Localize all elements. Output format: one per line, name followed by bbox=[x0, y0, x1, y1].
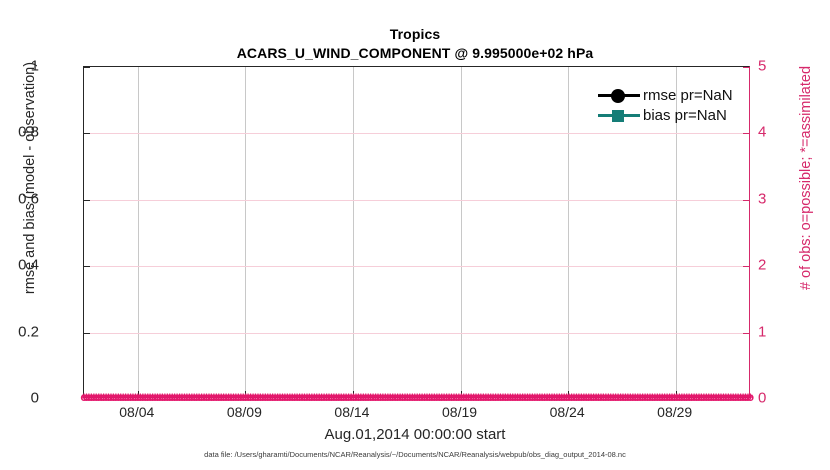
obs-possible-marker: o bbox=[387, 391, 394, 403]
obs-possible-marker: o bbox=[722, 391, 729, 403]
obs-assimilated-marker: * bbox=[716, 392, 721, 404]
obs-possible-marker: o bbox=[739, 391, 746, 403]
y-axis-tick-label-right: 0 bbox=[758, 390, 788, 407]
gridline-horizontal bbox=[84, 133, 749, 134]
obs-possible-marker: o bbox=[610, 391, 617, 403]
obs-assimilated-marker: * bbox=[270, 392, 275, 404]
obs-assimilated-marker: * bbox=[719, 392, 724, 404]
obs-assimilated-marker: * bbox=[655, 392, 660, 404]
obs-assimilated-marker: * bbox=[89, 392, 94, 404]
obs-assimilated-marker: * bbox=[165, 392, 170, 404]
obs-assimilated-marker: * bbox=[464, 392, 469, 404]
obs-possible-marker: o bbox=[602, 391, 609, 403]
legend-item: bias pr=NaN bbox=[598, 105, 748, 125]
obs-assimilated-marker: * bbox=[542, 392, 547, 404]
obs-assimilated-marker: * bbox=[454, 392, 459, 404]
obs-assimilated-marker: * bbox=[530, 392, 535, 404]
obs-possible-marker: o bbox=[330, 391, 337, 403]
obs-possible-marker: o bbox=[607, 391, 614, 403]
obs-possible-marker: o bbox=[524, 391, 531, 403]
obs-possible-marker: o bbox=[198, 391, 205, 403]
obs-assimilated-marker: * bbox=[123, 392, 128, 404]
obs-possible-marker: o bbox=[433, 391, 440, 403]
obs-assimilated-marker: * bbox=[481, 392, 486, 404]
obs-assimilated-marker: * bbox=[94, 392, 99, 404]
obs-assimilated-marker: * bbox=[532, 392, 537, 404]
obs-possible-marker: o bbox=[708, 391, 715, 403]
obs-assimilated-marker: * bbox=[251, 392, 256, 404]
obs-possible-marker: o bbox=[311, 391, 318, 403]
obs-possible-marker: o bbox=[629, 391, 636, 403]
obs-possible-marker: o bbox=[342, 391, 349, 403]
obs-assimilated-marker: * bbox=[704, 392, 709, 404]
obs-assimilated-marker: * bbox=[265, 392, 270, 404]
obs-assimilated-marker: * bbox=[577, 392, 582, 404]
obs-possible-marker: o bbox=[504, 391, 511, 403]
obs-assimilated-marker: * bbox=[332, 392, 337, 404]
obs-possible-marker: o bbox=[318, 391, 325, 403]
y-axis-tick-left bbox=[84, 333, 90, 334]
obs-possible-marker: o bbox=[279, 391, 286, 403]
obs-possible-marker: o bbox=[663, 391, 670, 403]
obs-possible-marker: o bbox=[122, 391, 129, 403]
gridline-vertical bbox=[568, 67, 569, 397]
obs-assimilated-marker: * bbox=[689, 392, 694, 404]
obs-assimilated-marker: * bbox=[381, 392, 386, 404]
obs-assimilated-marker: * bbox=[197, 392, 202, 404]
obs-possible-marker: o bbox=[737, 391, 744, 403]
obs-assimilated-marker: * bbox=[290, 392, 295, 404]
obs-assimilated-marker: * bbox=[633, 392, 638, 404]
obs-possible-marker: o bbox=[139, 391, 146, 403]
obs-assimilated-marker: * bbox=[692, 392, 697, 404]
obs-assimilated-marker: * bbox=[336, 392, 341, 404]
obs-possible-marker: o bbox=[154, 391, 161, 403]
obs-possible-marker: o bbox=[166, 391, 173, 403]
obs-possible-marker: o bbox=[249, 391, 256, 403]
obs-assimilated-marker: * bbox=[422, 392, 427, 404]
obs-possible-marker: o bbox=[717, 391, 724, 403]
obs-possible-marker: o bbox=[590, 391, 597, 403]
obs-possible-marker: o bbox=[690, 391, 697, 403]
y-axis-tick-label-right: 2 bbox=[758, 257, 788, 274]
obs-assimilated-marker: * bbox=[579, 392, 584, 404]
obs-possible-marker: o bbox=[394, 391, 401, 403]
obs-assimilated-marker: * bbox=[486, 392, 491, 404]
obs-assimilated-marker: * bbox=[258, 392, 263, 404]
obs-possible-marker: o bbox=[705, 391, 712, 403]
obs-assimilated-marker: * bbox=[525, 392, 530, 404]
obs-possible-marker: o bbox=[85, 391, 92, 403]
obs-possible-marker: o bbox=[587, 391, 594, 403]
obs-assimilated-marker: * bbox=[199, 392, 204, 404]
obs-possible-marker: o bbox=[725, 391, 732, 403]
obs-possible-marker: o bbox=[671, 391, 678, 403]
obs-assimilated-marker: * bbox=[535, 392, 540, 404]
obs-possible-marker: o bbox=[230, 391, 237, 403]
obs-possible-marker: o bbox=[107, 391, 114, 403]
obs-assimilated-marker: * bbox=[660, 392, 665, 404]
obs-possible-marker: o bbox=[247, 391, 254, 403]
obs-possible-marker: o bbox=[715, 391, 722, 403]
obs-assimilated-marker: * bbox=[214, 392, 219, 404]
x-axis-tick-label: 08/09 bbox=[227, 404, 262, 420]
obs-possible-marker: o bbox=[734, 391, 741, 403]
obs-assimilated-marker: * bbox=[653, 392, 658, 404]
obs-possible-marker: o bbox=[159, 391, 166, 403]
x-axis-tick bbox=[138, 391, 139, 397]
obs-possible-marker: o bbox=[286, 391, 293, 403]
obs-possible-marker: o bbox=[448, 391, 455, 403]
obs-possible-marker: o bbox=[514, 391, 521, 403]
obs-possible-marker: o bbox=[583, 391, 590, 403]
obs-possible-marker: o bbox=[345, 391, 352, 403]
obs-assimilated-marker: * bbox=[447, 392, 452, 404]
obs-assimilated-marker: * bbox=[491, 392, 496, 404]
obs-assimilated-marker: * bbox=[297, 392, 302, 404]
obs-assimilated-marker: * bbox=[694, 392, 699, 404]
obs-assimilated-marker: * bbox=[591, 392, 596, 404]
obs-assimilated-marker: * bbox=[312, 392, 317, 404]
obs-possible-marker: o bbox=[156, 391, 163, 403]
obs-assimilated-marker: * bbox=[474, 392, 479, 404]
obs-assimilated-marker: * bbox=[702, 392, 707, 404]
obs-assimilated-marker: * bbox=[207, 392, 212, 404]
obs-assimilated-marker: * bbox=[99, 392, 104, 404]
obs-possible-marker: o bbox=[149, 391, 156, 403]
obs-assimilated-marker: * bbox=[479, 392, 484, 404]
gridline-vertical bbox=[138, 67, 139, 397]
obs-assimilated-marker: * bbox=[405, 392, 410, 404]
obs-assimilated-marker: * bbox=[167, 392, 172, 404]
obs-assimilated-marker: * bbox=[618, 392, 623, 404]
obs-possible-marker: o bbox=[183, 391, 190, 403]
obs-possible-marker: o bbox=[225, 391, 232, 403]
obs-assimilated-marker: * bbox=[170, 392, 175, 404]
obs-possible-marker: o bbox=[673, 391, 680, 403]
obs-assimilated-marker: * bbox=[305, 392, 310, 404]
obs-possible-marker: o bbox=[531, 391, 538, 403]
obs-possible-marker: o bbox=[668, 391, 675, 403]
obs-possible-marker: o bbox=[414, 391, 421, 403]
obs-assimilated-marker: * bbox=[711, 392, 716, 404]
obs-assimilated-marker: * bbox=[510, 392, 515, 404]
obs-assimilated-marker: * bbox=[187, 392, 192, 404]
obs-possible-marker: o bbox=[210, 391, 217, 403]
data-file-caption: data file: /Users/gharamti/Documents/NCA… bbox=[0, 450, 830, 459]
obs-assimilated-marker: * bbox=[596, 392, 601, 404]
obs-possible-marker: o bbox=[340, 391, 347, 403]
obs-assimilated-marker: * bbox=[439, 392, 444, 404]
obs-possible-marker: o bbox=[494, 391, 501, 403]
obs-possible-marker: o bbox=[472, 391, 479, 403]
obs-assimilated-marker: * bbox=[728, 392, 733, 404]
x-axis-title: Aug.01,2014 00:00:00 start bbox=[0, 426, 830, 443]
obs-possible-marker: o bbox=[695, 391, 702, 403]
obs-assimilated-marker: * bbox=[185, 392, 190, 404]
obs-assimilated-marker: * bbox=[733, 392, 738, 404]
obs-assimilated-marker: * bbox=[550, 392, 555, 404]
obs-assimilated-marker: * bbox=[630, 392, 635, 404]
obs-possible-marker: o bbox=[678, 391, 685, 403]
obs-assimilated-marker: * bbox=[738, 392, 743, 404]
obs-assimilated-marker: * bbox=[557, 392, 562, 404]
obs-possible-marker: o bbox=[703, 391, 710, 403]
obs-assimilated-marker: * bbox=[175, 392, 180, 404]
obs-assimilated-marker: * bbox=[714, 392, 719, 404]
obs-assimilated-marker: * bbox=[574, 392, 579, 404]
obs-possible-marker: o bbox=[369, 391, 376, 403]
obs-assimilated-marker: * bbox=[449, 392, 454, 404]
obs-possible-marker: o bbox=[487, 391, 494, 403]
y-axis-tick-left bbox=[84, 67, 90, 68]
obs-possible-marker: o bbox=[436, 391, 443, 403]
obs-assimilated-marker: * bbox=[471, 392, 476, 404]
obs-possible-marker: o bbox=[129, 391, 136, 403]
obs-assimilated-marker: * bbox=[212, 392, 217, 404]
obs-possible-marker: o bbox=[649, 391, 656, 403]
obs-assimilated-marker: * bbox=[202, 392, 207, 404]
obs-possible-marker: o bbox=[546, 391, 553, 403]
obs-assimilated-marker: * bbox=[731, 392, 736, 404]
obs-assimilated-marker: * bbox=[283, 392, 288, 404]
obs-possible-marker: o bbox=[335, 391, 342, 403]
obs-assimilated-marker: * bbox=[278, 392, 283, 404]
obs-possible-marker: o bbox=[161, 391, 168, 403]
obs-assimilated-marker: * bbox=[513, 392, 518, 404]
obs-assimilated-marker: * bbox=[275, 392, 280, 404]
obs-possible-marker: o bbox=[215, 391, 222, 403]
obs-assimilated-marker: * bbox=[736, 392, 741, 404]
obs-assimilated-marker: * bbox=[234, 392, 239, 404]
obs-assimilated-marker: * bbox=[461, 392, 466, 404]
obs-assimilated-marker: * bbox=[376, 392, 381, 404]
obs-assimilated-marker: * bbox=[520, 392, 525, 404]
obs-possible-marker: o bbox=[409, 391, 416, 403]
obs-assimilated-marker: * bbox=[285, 392, 290, 404]
obs-possible-marker: o bbox=[747, 391, 754, 403]
obs-possible-marker: o bbox=[499, 391, 506, 403]
x-axis-tick-label: 08/14 bbox=[334, 404, 369, 420]
obs-possible-marker: o bbox=[563, 391, 570, 403]
page-title: Tropics bbox=[0, 26, 830, 43]
obs-assimilated-marker: * bbox=[216, 392, 221, 404]
obs-assimilated-marker: * bbox=[638, 392, 643, 404]
y-axis-title-left: rmse and bias (model - observation) bbox=[22, 0, 38, 388]
legend-marker-sample bbox=[598, 86, 640, 104]
obs-possible-marker: o bbox=[208, 391, 215, 403]
obs-possible-marker: o bbox=[744, 391, 751, 403]
gridline-horizontal bbox=[84, 200, 749, 201]
obs-possible-marker: o bbox=[548, 391, 555, 403]
obs-possible-marker: o bbox=[693, 391, 700, 403]
obs-assimilated-marker: * bbox=[273, 392, 278, 404]
obs-possible-marker: o bbox=[267, 391, 274, 403]
obs-possible-marker: o bbox=[428, 391, 435, 403]
obs-assimilated-marker: * bbox=[319, 392, 324, 404]
x-axis-tick bbox=[461, 391, 462, 397]
obs-possible-marker: o bbox=[306, 391, 313, 403]
obs-assimilated-marker: * bbox=[307, 392, 312, 404]
obs-assimilated-marker: * bbox=[87, 392, 92, 404]
obs-possible-marker: o bbox=[146, 391, 153, 403]
obs-possible-marker: o bbox=[450, 391, 457, 403]
obs-assimilated-marker: * bbox=[300, 392, 305, 404]
obs-assimilated-marker: * bbox=[126, 392, 131, 404]
obs-possible-marker: o bbox=[553, 391, 560, 403]
obs-assimilated-marker: * bbox=[153, 392, 158, 404]
obs-assimilated-marker: * bbox=[354, 392, 359, 404]
y-axis-tick-left bbox=[84, 399, 90, 400]
obs-assimilated-marker: * bbox=[743, 392, 748, 404]
obs-assimilated-marker: * bbox=[236, 392, 241, 404]
obs-assimilated-marker: * bbox=[361, 392, 366, 404]
obs-possible-marker: o bbox=[97, 391, 104, 403]
obs-possible-marker: o bbox=[382, 391, 389, 403]
obs-assimilated-marker: * bbox=[444, 392, 449, 404]
obs-possible-marker: o bbox=[646, 391, 653, 403]
obs-assimilated-marker: * bbox=[327, 392, 332, 404]
chart-subtitle: ACARS_U_WIND_COMPONENT @ 9.995000e+02 hP… bbox=[0, 44, 830, 62]
obs-possible-marker: o bbox=[720, 391, 727, 403]
obs-assimilated-marker: * bbox=[314, 392, 319, 404]
gridline-vertical bbox=[461, 67, 462, 397]
obs-assimilated-marker: * bbox=[432, 392, 437, 404]
obs-possible-marker: o bbox=[622, 391, 629, 403]
obs-assimilated-marker: * bbox=[194, 392, 199, 404]
obs-assimilated-marker: * bbox=[569, 392, 574, 404]
obs-possible-marker: o bbox=[205, 391, 212, 403]
obs-assimilated-marker: * bbox=[231, 392, 236, 404]
obs-possible-marker: o bbox=[102, 391, 109, 403]
obs-possible-marker: o bbox=[274, 391, 281, 403]
obs-possible-marker: o bbox=[556, 391, 563, 403]
obs-assimilated-marker: * bbox=[334, 392, 339, 404]
obs-possible-marker: o bbox=[463, 391, 470, 403]
obs-possible-marker: o bbox=[605, 391, 612, 403]
obs-assimilated-marker: * bbox=[415, 392, 420, 404]
obs-possible-marker: o bbox=[301, 391, 308, 403]
obs-possible-marker: o bbox=[683, 391, 690, 403]
obs-possible-marker: o bbox=[333, 391, 340, 403]
obs-possible-marker: o bbox=[389, 391, 396, 403]
obs-possible-marker: o bbox=[421, 391, 428, 403]
obs-assimilated-marker: * bbox=[148, 392, 153, 404]
obs-assimilated-marker: * bbox=[572, 392, 577, 404]
obs-assimilated-marker: * bbox=[559, 392, 564, 404]
obs-possible-marker: o bbox=[232, 391, 239, 403]
obs-possible-marker: o bbox=[176, 391, 183, 403]
obs-possible-marker: o bbox=[681, 391, 688, 403]
obs-assimilated-marker: * bbox=[121, 392, 126, 404]
obs-possible-marker: o bbox=[526, 391, 533, 403]
obs-assimilated-marker: * bbox=[476, 392, 481, 404]
obs-assimilated-marker: * bbox=[155, 392, 160, 404]
obs-possible-marker: o bbox=[181, 391, 188, 403]
gridline-vertical bbox=[353, 67, 354, 397]
obs-assimilated-marker: * bbox=[586, 392, 591, 404]
obs-assimilated-marker: * bbox=[204, 392, 209, 404]
obs-possible-marker: o bbox=[529, 391, 536, 403]
legend-item: rmse pr=NaN bbox=[598, 85, 748, 105]
obs-possible-marker: o bbox=[512, 391, 519, 403]
obs-assimilated-marker: * bbox=[667, 392, 672, 404]
obs-assimilated-marker: * bbox=[518, 392, 523, 404]
obs-assimilated-marker: * bbox=[537, 392, 542, 404]
obs-possible-marker: o bbox=[489, 391, 496, 403]
obs-assimilated-marker: * bbox=[616, 392, 621, 404]
obs-assimilated-marker: * bbox=[359, 392, 364, 404]
obs-assimilated-marker: * bbox=[172, 392, 177, 404]
obs-possible-marker: o bbox=[193, 391, 200, 403]
obs-possible-marker: o bbox=[164, 391, 171, 403]
obs-possible-marker: o bbox=[169, 391, 176, 403]
obs-assimilated-marker: * bbox=[621, 392, 626, 404]
obs-assimilated-marker: * bbox=[640, 392, 645, 404]
obs-assimilated-marker: * bbox=[192, 392, 197, 404]
obs-possible-marker: o bbox=[507, 391, 514, 403]
obs-possible-marker: o bbox=[661, 391, 668, 403]
obs-assimilated-marker: * bbox=[555, 392, 560, 404]
obs-possible-marker: o bbox=[659, 391, 666, 403]
obs-possible-marker: o bbox=[220, 391, 227, 403]
obs-assimilated-marker: * bbox=[699, 392, 704, 404]
obs-possible-marker: o bbox=[475, 391, 482, 403]
obs-assimilated-marker: * bbox=[442, 392, 447, 404]
obs-assimilated-marker: * bbox=[687, 392, 692, 404]
y-axis-tick-right bbox=[743, 266, 749, 267]
obs-possible-marker: o bbox=[200, 391, 207, 403]
obs-possible-marker: o bbox=[391, 391, 398, 403]
obs-possible-marker: o bbox=[406, 391, 413, 403]
gridline-horizontal bbox=[84, 266, 749, 267]
obs-possible-marker: o bbox=[627, 391, 634, 403]
obs-possible-marker: o bbox=[573, 391, 580, 403]
obs-possible-marker: o bbox=[338, 391, 345, 403]
obs-possible-marker: o bbox=[316, 391, 323, 403]
obs-assimilated-marker: * bbox=[280, 392, 285, 404]
obs-possible-marker: o bbox=[585, 391, 592, 403]
obs-assimilated-marker: * bbox=[292, 392, 297, 404]
obs-assimilated-marker: * bbox=[501, 392, 506, 404]
obs-assimilated-marker: * bbox=[96, 392, 101, 404]
obs-possible-marker: o bbox=[617, 391, 624, 403]
obs-possible-marker: o bbox=[644, 391, 651, 403]
obs-assimilated-marker: * bbox=[91, 392, 96, 404]
obs-possible-marker: o bbox=[445, 391, 452, 403]
y-axis-tick-label-right: 5 bbox=[758, 58, 788, 75]
obs-possible-marker: o bbox=[171, 391, 178, 403]
obs-assimilated-marker: * bbox=[417, 392, 422, 404]
obs-assimilated-marker: * bbox=[437, 392, 442, 404]
obs-possible-marker: o bbox=[418, 391, 425, 403]
obs-assimilated-marker: * bbox=[246, 392, 251, 404]
obs-possible-marker: o bbox=[730, 391, 737, 403]
obs-assimilated-marker: * bbox=[177, 392, 182, 404]
obs-possible-marker: o bbox=[357, 391, 364, 403]
obs-possible-marker: o bbox=[619, 391, 626, 403]
obs-possible-marker: o bbox=[641, 391, 648, 403]
obs-possible-marker: o bbox=[262, 391, 269, 403]
obs-possible-marker: o bbox=[404, 391, 411, 403]
obs-possible-marker: o bbox=[365, 391, 372, 403]
obs-assimilated-marker: * bbox=[425, 392, 430, 404]
obs-assimilated-marker: * bbox=[452, 392, 457, 404]
obs-assimilated-marker: * bbox=[180, 392, 185, 404]
obs-possible-marker: o bbox=[281, 391, 288, 403]
x-axis-tick bbox=[676, 391, 677, 397]
obs-assimilated-marker: * bbox=[594, 392, 599, 404]
